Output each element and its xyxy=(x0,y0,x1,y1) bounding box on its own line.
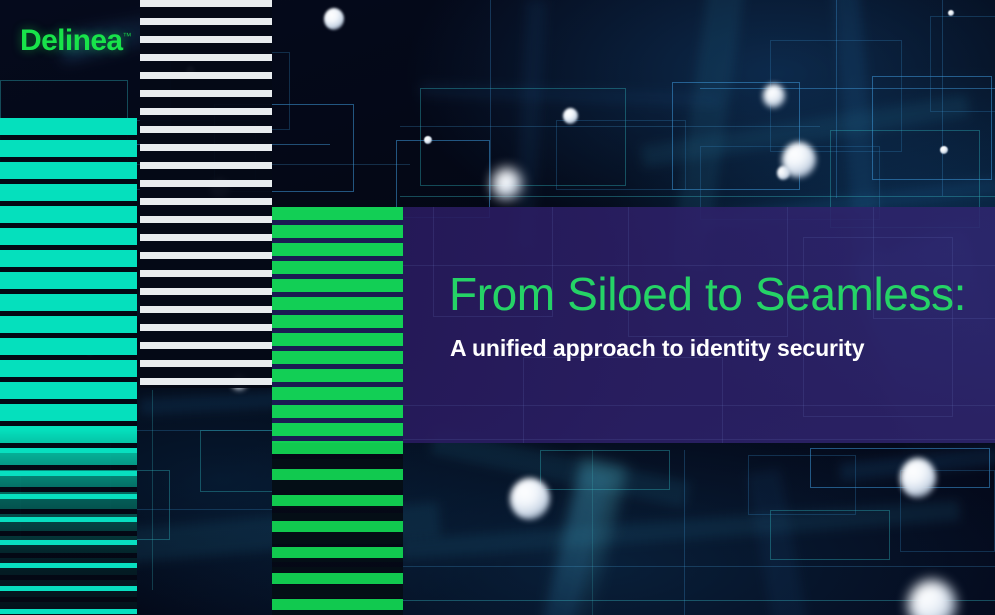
green-stripe-lower xyxy=(272,443,403,615)
cyan-stripe-thin xyxy=(0,430,137,615)
node-sphere xyxy=(763,84,785,108)
node-sphere xyxy=(782,142,816,178)
node-sphere xyxy=(563,108,578,124)
white-stripe-column xyxy=(140,0,272,388)
node-sphere xyxy=(424,136,432,144)
delinea-logo[interactable]: Delinea™ xyxy=(20,26,131,56)
content-band xyxy=(403,207,995,443)
slide-headline: From Siloed to Seamless: xyxy=(449,270,966,318)
node-sphere xyxy=(900,458,936,498)
slide-subheadline: A unified approach to identity security xyxy=(450,335,864,362)
node-sphere xyxy=(492,168,522,200)
title-slide: From Siloed to Seamless: A unified appro… xyxy=(0,0,995,615)
logo-wordmark: Delinea xyxy=(20,24,123,57)
trademark-symbol: ™ xyxy=(123,31,131,41)
node-sphere xyxy=(940,146,948,154)
node-sphere xyxy=(510,478,550,520)
node-sphere xyxy=(908,580,956,615)
node-sphere xyxy=(324,8,344,30)
node-sphere xyxy=(948,10,954,16)
